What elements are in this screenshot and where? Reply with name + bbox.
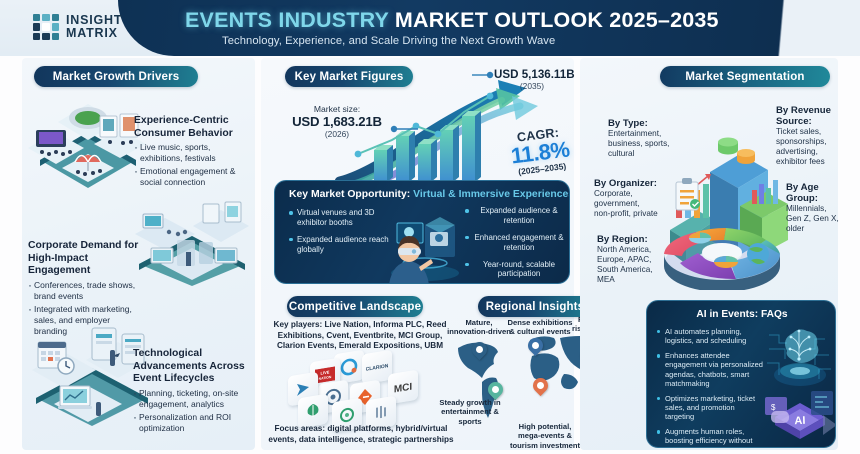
driver-bullet: Personalization and ROI optimization: [133, 412, 245, 434]
ai-brain-hologram-chip: AI $: [763, 319, 836, 447]
segment-text: Millennials, Gen Z, Gen X, older: [786, 204, 844, 234]
segment-title: By Region:: [597, 234, 661, 245]
svg-text:$: $: [771, 403, 776, 412]
opportunity-title-main: Key Market Opportunity:: [289, 189, 410, 200]
market-size-callout: Market size: USD 1,683.21B (2026): [282, 104, 392, 139]
driver-title: Technological Advancements Across Event …: [133, 348, 245, 386]
list-item: Optimizes marketing, ticket sales, and p…: [657, 394, 763, 421]
brand-logo: INSIGHT MATRIX: [33, 14, 122, 40]
list-item: Enhanced engagement & retention: [465, 233, 565, 253]
grid-logo-icon: [33, 14, 59, 40]
market-size-value: USD 1,683.21B: [282, 114, 392, 129]
competitive-key-players: Key players: Live Nation, Informa PLC, R…: [270, 320, 450, 352]
stadium-carnival-concert-isometric: [28, 98, 148, 193]
infographic-page: INSIGHT MATRIX EVENTS INDUSTRY MARKET OU…: [0, 0, 860, 454]
title-rest: MARKET OUTLOOK 2025–2035: [395, 8, 719, 32]
segment-by-age-group: By Age Group: Millennials, Gen Z, Gen X,…: [786, 182, 844, 234]
driver-bullet: Emotional engagement & social connection: [134, 166, 246, 188]
list-item: AI automates planning, logistics, and sc…: [657, 327, 763, 345]
ai-in-events-faqs-card: AI in Events: FAQs AI automates planning…: [646, 300, 836, 448]
driver-bullet: Live music, sports, exhibitions, festiva…: [134, 142, 246, 164]
driver-title: Corporate Demand for High-Impact Engagem…: [28, 240, 140, 278]
list-item: Enhances attendee engagement via persona…: [657, 351, 763, 388]
title-highlight: EVENTS INDUSTRY: [185, 8, 389, 32]
page-title: EVENTS INDUSTRY MARKET OUTLOOK 2025–2035: [185, 8, 785, 33]
list-item: Expanded audience & retention: [465, 206, 565, 226]
segment-text: Entertainment, business, sports, cultura…: [608, 129, 670, 159]
list-item: Augments human roles, boosting efficienc…: [657, 427, 763, 448]
segment-title: By Revenue Source:: [776, 105, 848, 127]
section-heading-market-segmentation: Market Segmentation: [660, 66, 830, 87]
segment-by-revenue-source: By Revenue Source: Ticket sales, sponsor…: [776, 105, 848, 167]
region-label-europe: Dense exhibitions & cultural events: [506, 318, 574, 337]
driver-title: Experience-Centric Consumer Behavior: [134, 115, 246, 140]
market-size-label: Market size:: [282, 104, 392, 114]
donut-3d-bars-chart: [648, 98, 796, 290]
driver-bullet: Conferences, trade shows, brand events: [28, 280, 140, 302]
forecast-leader-line: [472, 70, 496, 80]
segment-text: North America, Europe, APAC, South Ameri…: [597, 245, 661, 285]
section-heading-competitive-landscape: Competitive Landscape: [287, 296, 423, 317]
segment-title: By Type:: [608, 118, 670, 129]
market-size-leader-line: [390, 124, 420, 134]
forecast-year: (2035): [494, 81, 570, 91]
region-label-north-america: Mature, innovation-driven: [446, 318, 512, 337]
page-subtitle: Technology, Experience, and Scale Drivin…: [222, 35, 555, 47]
svg-text:AI: AI: [794, 415, 805, 427]
page-header: INSIGHT MATRIX EVENTS INDUSTRY MARKET OU…: [0, 0, 860, 56]
competitive-focus-areas: Focus areas: digital platforms, hybrid/v…: [268, 424, 454, 445]
driver-item-1: Experience-Centric Consumer Behavior Liv…: [134, 115, 246, 191]
driver-bullet: Planning, ticketing, on-site engagement,…: [133, 388, 245, 410]
vr-headset-user-isometric: [381, 201, 465, 284]
svg-text:MCI: MCI: [394, 382, 413, 395]
competitor-logo-tiles: LIVENATION CLARION MCI: [288, 352, 438, 420]
section-heading-growth-drivers: Market Growth Drivers: [34, 66, 198, 87]
segment-title: By Organizer:: [594, 178, 658, 189]
segment-title: By Age Group:: [786, 182, 844, 204]
section-heading-regional-insights: Regional Insights: [478, 296, 592, 317]
opportunity-title-accent: Virtual & Immersive Experiences: [413, 189, 570, 200]
market-size-year: (2026): [282, 129, 392, 139]
opportunity-title: Key Market Opportunity: Virtual & Immers…: [289, 189, 570, 200]
opportunity-right-list: Expanded audience & retention Enhanced e…: [465, 206, 565, 284]
key-market-opportunity-card: Key Market Opportunity: Virtual & Immers…: [274, 180, 570, 284]
segment-by-region: By Region: North America, Europe, APAC, …: [597, 234, 661, 285]
svg-text:CLARION: CLARION: [366, 363, 388, 373]
driver-item-3: Technological Advancements Across Event …: [133, 348, 245, 436]
region-label-south-america: Steady growth in entertainment & sports: [438, 398, 502, 426]
ai-faqs-list: AI automates planning, logistics, and sc…: [657, 327, 763, 448]
conference-booth-isometric: [133, 196, 251, 288]
segment-by-organizer: By Organizer: Corporate, government, non…: [594, 178, 658, 219]
list-item: Year-round, scalable participation: [465, 260, 565, 280]
logo-line-2: MATRIX: [66, 27, 122, 40]
segment-text: Corporate, government, non-profit, priva…: [594, 189, 658, 219]
segment-by-type: By Type: Entertainment, business, sports…: [608, 118, 670, 159]
region-label-mea: High potential, mega-events & tourism in…: [508, 422, 582, 450]
segment-text: Ticket sales, sponsorships, advertising,…: [776, 127, 848, 167]
